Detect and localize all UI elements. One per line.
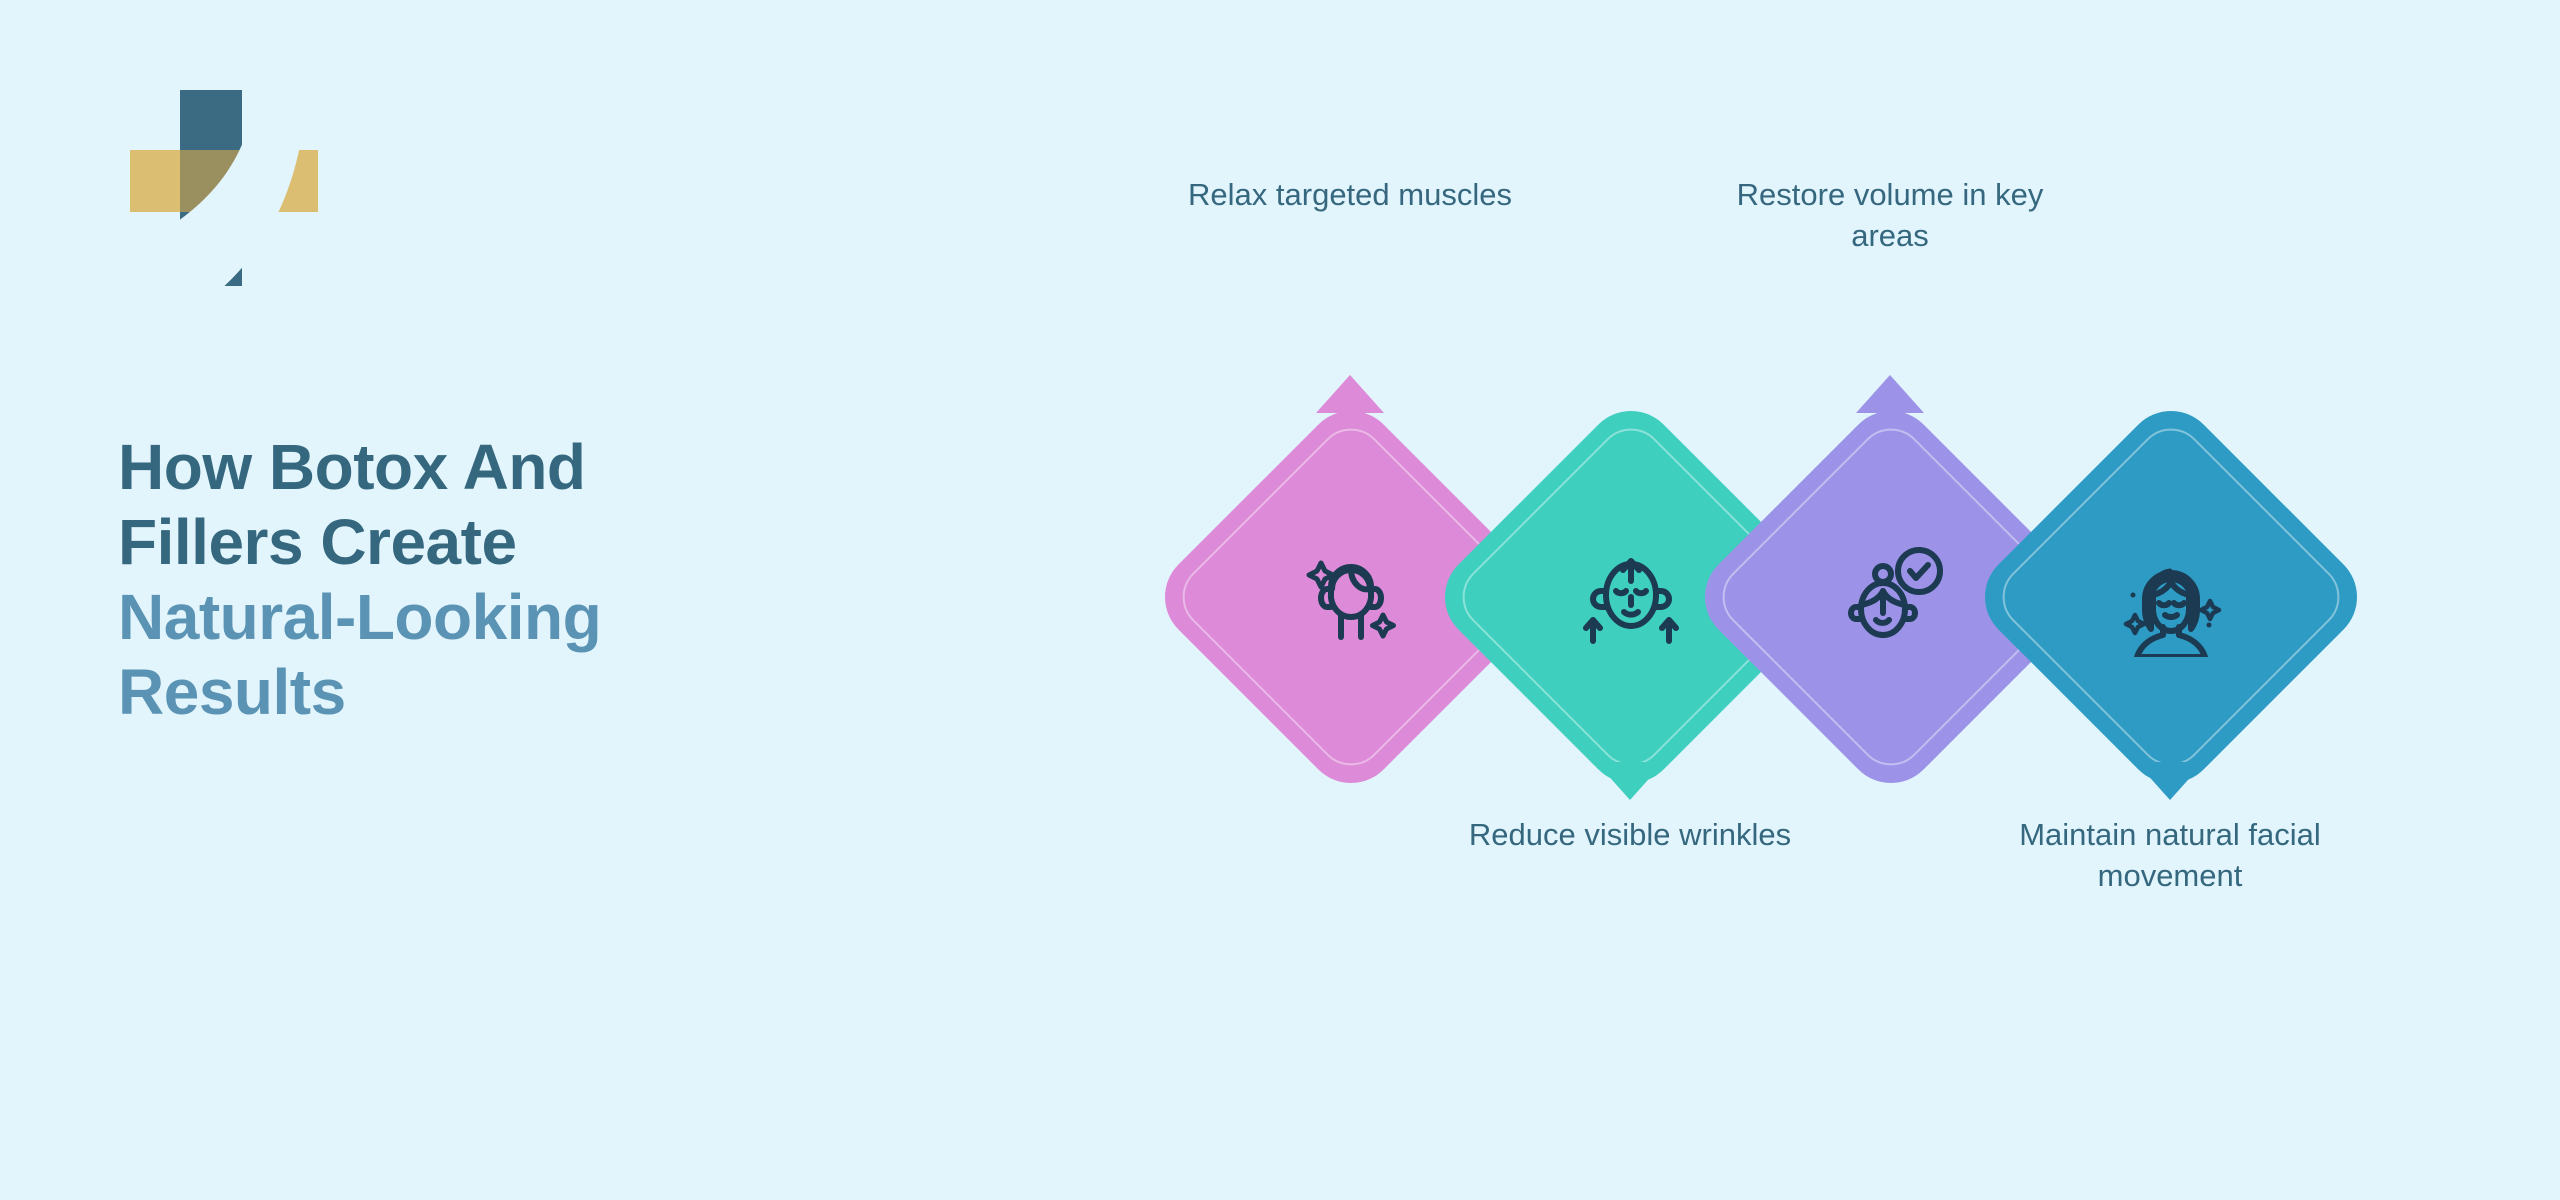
woman-sparkle-icon	[2111, 537, 2231, 657]
clinic-cross-logo	[108, 78, 340, 298]
logo-overlap	[180, 150, 242, 212]
headline-line-2: Fillers Create	[118, 505, 818, 580]
marker-triangle-down-teal	[1596, 762, 1664, 800]
caption-reduce-wrinkles: Reduce visible wrinkles	[1460, 815, 1800, 856]
headline-line-3: Natural-Looking	[118, 580, 818, 655]
marker-triangle-up-purple	[1856, 375, 1924, 413]
face-lift-arrows-icon	[1571, 537, 1691, 657]
face-sparkle-icon	[1291, 537, 1411, 657]
headline-line-4: Results	[118, 655, 818, 730]
marker-triangle-down-blue	[2136, 762, 2204, 800]
process-diagram: Relax targeted muscles	[1100, 200, 2500, 1000]
caption-relax-muscles: Relax targeted muscles	[1180, 175, 1520, 216]
page-title: How Botox And Fillers Create Natural-Loo…	[118, 430, 818, 730]
node-natural-movement[interactable]	[2026, 452, 2316, 742]
headline-line-1: How Botox And	[118, 430, 818, 505]
marker-triangle-up-pink	[1316, 375, 1384, 413]
caption-restore-volume: Restore volume in key areas	[1720, 175, 2060, 257]
caption-natural-movement: Maintain natural facial movement	[2000, 815, 2340, 897]
face-check-icon	[1831, 537, 1951, 657]
infographic-canvas: How Botox And Fillers Create Natural-Loo…	[0, 0, 2560, 1200]
